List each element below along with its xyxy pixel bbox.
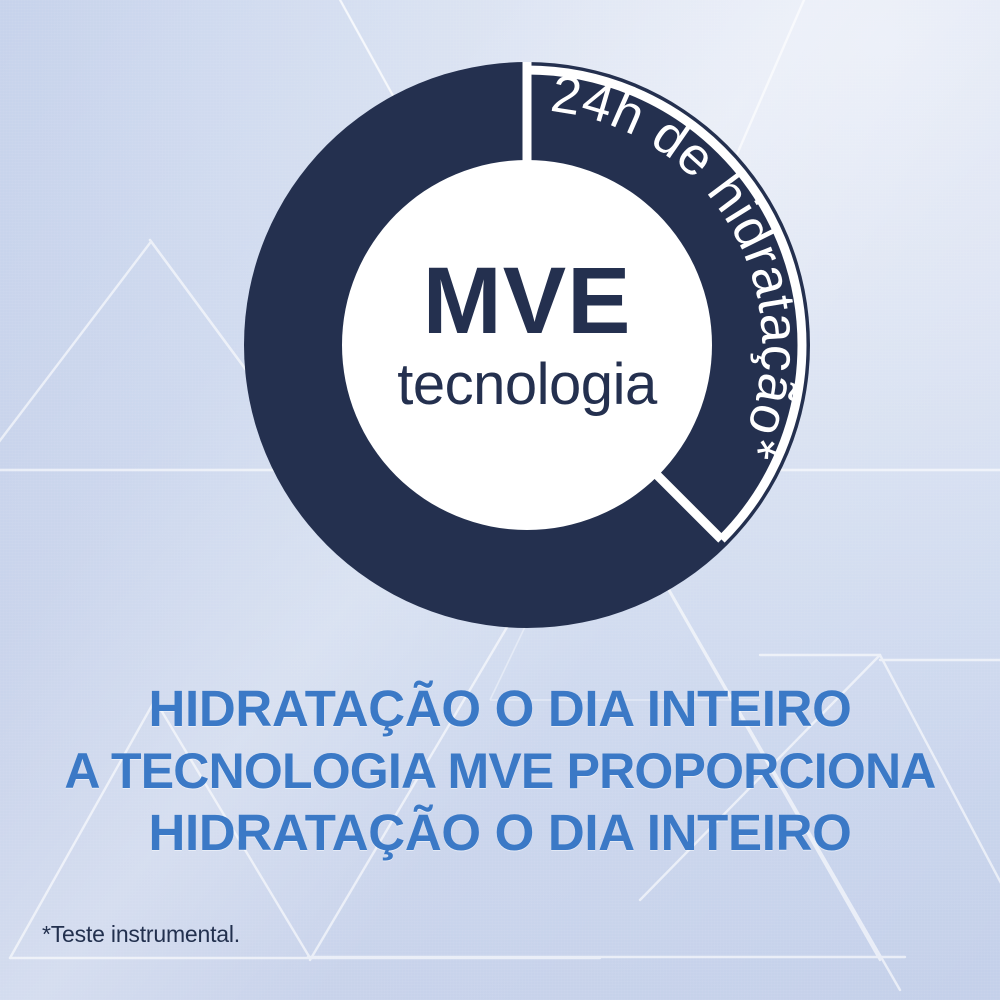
headline-line-3: HIDRATAÇÃO O DIA INTEIRO — [0, 802, 1000, 864]
headline-block: HIDRATAÇÃO O DIA INTEIRO A TECNOLOGIA MV… — [0, 678, 1000, 864]
headline-line-1: HIDRATAÇÃO O DIA INTEIRO — [0, 678, 1000, 740]
footnote-text: *Teste instrumental. — [42, 921, 240, 948]
mve-badge: 24h de hidratação* MVE tecnologia — [244, 62, 810, 628]
promo-poster: 24h de hidratação* MVE tecnologia HIDRAT… — [0, 0, 1000, 1000]
badge-inner-disc — [342, 160, 712, 530]
headline-line-2: A TECNOLOGIA MVE PROPORCIONA — [0, 740, 1000, 802]
